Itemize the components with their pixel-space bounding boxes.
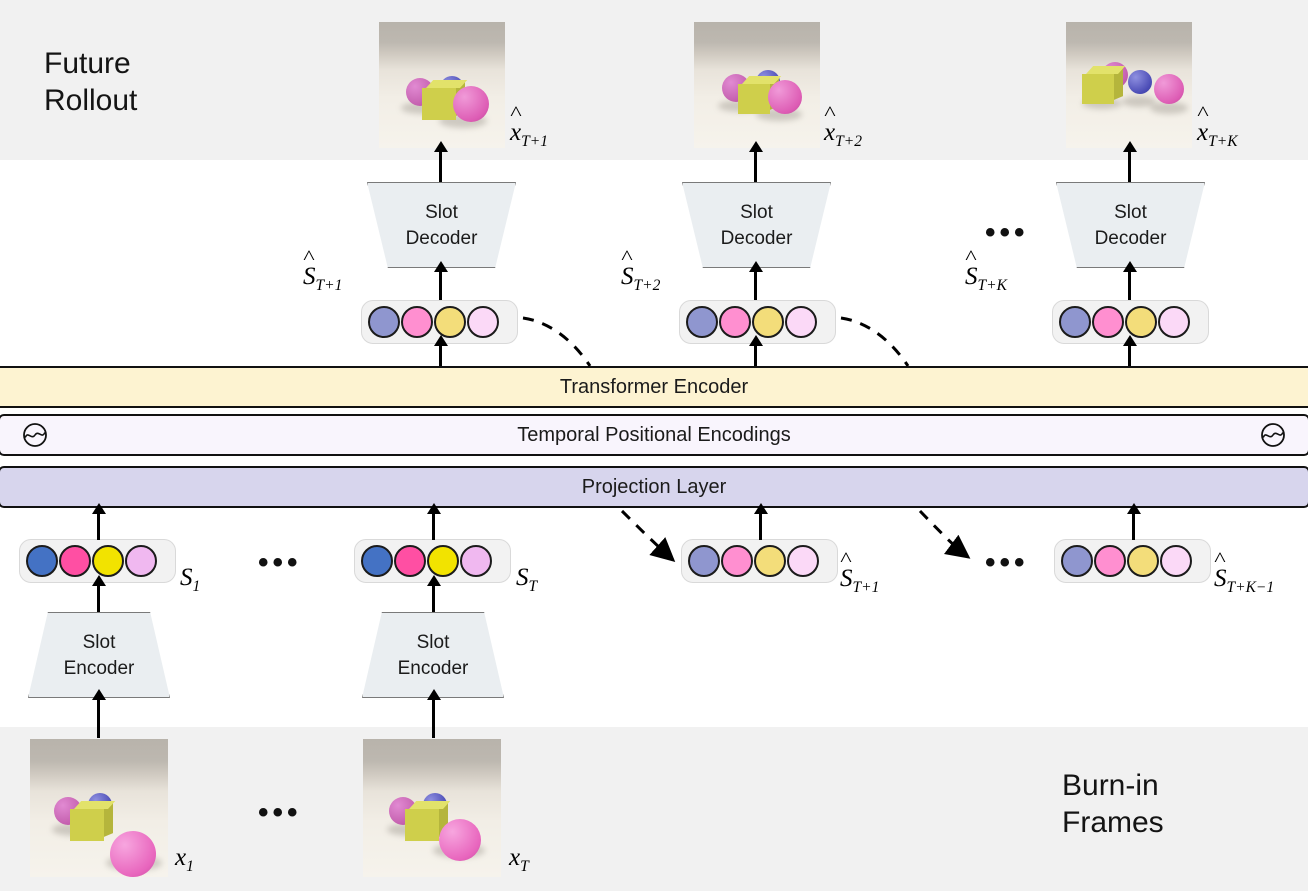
arrow-transformer-to-slots-T1	[439, 344, 442, 366]
sine-wave-circle-icon-right	[1260, 422, 1286, 448]
burn-in-frame-1	[30, 739, 168, 877]
label-x1: x1	[175, 844, 194, 876]
predicted-frame-T2	[694, 22, 820, 148]
arrow-frame1-to-encoder	[97, 698, 100, 738]
arrow-S1-to-projection	[97, 512, 100, 540]
yellow-cube	[738, 84, 770, 114]
arrow-ShatTK1-to-projection	[1132, 512, 1135, 540]
pink-sphere-large	[439, 819, 481, 861]
arrow-decoder-to-frame-T2	[754, 150, 757, 182]
pink-sphere-large	[768, 80, 802, 114]
burn-in-frames-title: Burn-in Frames	[1062, 767, 1164, 841]
label-Shat-TK-1-input: ST+K−1	[1214, 565, 1274, 597]
slot-2	[752, 306, 784, 338]
pink-sphere-large	[1154, 74, 1184, 104]
arrow-ST-to-projection	[432, 512, 435, 540]
slot-2	[427, 545, 459, 577]
slot-1	[394, 545, 426, 577]
slot-0	[361, 545, 393, 577]
slot-1	[401, 306, 433, 338]
transformer-encoder-layer[interactable]: Transformer Encoder	[0, 366, 1308, 408]
arrow-transformer-to-slots-T2	[754, 344, 757, 366]
arrow-slots-to-decoder-T1	[439, 270, 442, 300]
label-xhat-TK: xT+K	[1197, 119, 1238, 151]
pink-sphere-large	[453, 86, 489, 122]
slot-group-Shat-TK-1-input[interactable]	[1054, 539, 1211, 583]
slot-encoder-1[interactable]: Slot Encoder	[28, 612, 170, 698]
ellipsis-bottom: •••	[258, 798, 302, 828]
architecture-diagram: Future Rollout Burn-in Frames xT+1 xT+2	[0, 0, 1308, 891]
label-xT: xT	[509, 844, 529, 876]
slot-0	[686, 306, 718, 338]
slot-0	[1059, 306, 1091, 338]
slot-group-Shat-T1-input[interactable]	[681, 539, 838, 583]
arrow-transformer-to-slots-TK	[1128, 344, 1131, 366]
slot-decoder-T1[interactable]: Slot Decoder	[367, 182, 516, 268]
pink-sphere-large	[110, 831, 156, 877]
slot-2	[1127, 545, 1159, 577]
dashed-arrow-to-ShatT1-input	[622, 511, 673, 560]
slot-2	[1125, 306, 1157, 338]
arrow-encoder1-to-S1	[97, 584, 100, 612]
dashed-arrow-to-next-input	[920, 511, 968, 557]
ellipsis-mid-left: •••	[258, 548, 302, 578]
label-ST: ST	[516, 564, 537, 596]
slot-decoder-TK[interactable]: Slot Decoder	[1056, 182, 1205, 268]
ellipsis-top: •••	[985, 218, 1029, 248]
slot-1	[719, 306, 751, 338]
slot-3	[1158, 306, 1190, 338]
label-S1: S1	[180, 564, 200, 596]
projection-layer[interactable]: Projection Layer	[0, 466, 1308, 508]
dashed-arc-T1-down	[523, 318, 590, 366]
slot-3	[1160, 545, 1192, 577]
blue-sphere	[1128, 70, 1152, 94]
arrow-frameT-to-encoder	[432, 698, 435, 738]
slot-3	[787, 545, 819, 577]
yellow-cube	[422, 88, 456, 120]
label-Shat-T2: ST+2	[621, 263, 660, 295]
slot-3	[125, 545, 157, 577]
arrow-encoderT-to-ST	[432, 584, 435, 612]
slot-1	[721, 545, 753, 577]
future-rollout-title: Future Rollout	[44, 45, 137, 119]
slot-decoder-T2[interactable]: Slot Decoder	[682, 182, 831, 268]
arrow-slots-to-decoder-T2	[754, 270, 757, 300]
slot-2	[92, 545, 124, 577]
slot-3	[467, 306, 499, 338]
slot-1	[59, 545, 91, 577]
label-Shat-T1-input: ST+1	[840, 565, 879, 597]
slot-1	[1092, 306, 1124, 338]
slot-3	[785, 306, 817, 338]
yellow-cube	[405, 809, 439, 841]
yellow-cube	[70, 809, 104, 841]
temporal-positional-encodings-layer[interactable]: Temporal Positional Encodings	[0, 414, 1308, 456]
arrow-decoder-to-frame-TK	[1128, 150, 1131, 182]
arrow-decoder-to-frame-T1	[439, 150, 442, 182]
slot-2	[754, 545, 786, 577]
predicted-frame-T1	[379, 22, 505, 148]
label-xhat-T1: xT+1	[510, 119, 548, 151]
label-Shat-T1: ST+1	[303, 263, 342, 295]
slot-0	[368, 306, 400, 338]
label-xhat-T2: xT+2	[824, 119, 862, 151]
ellipsis-mid-right: •••	[985, 548, 1029, 578]
slot-3	[460, 545, 492, 577]
slot-0	[688, 545, 720, 577]
sine-wave-circle-icon-left	[22, 422, 48, 448]
slot-1	[1094, 545, 1126, 577]
yellow-cube	[1082, 74, 1114, 104]
predicted-frame-TK	[1066, 22, 1192, 148]
arrow-ShatT1-to-projection	[759, 512, 762, 540]
slot-2	[434, 306, 466, 338]
slot-encoder-T[interactable]: Slot Encoder	[362, 612, 504, 698]
slot-0	[26, 545, 58, 577]
label-Shat-TK: ST+K	[965, 263, 1007, 295]
arrow-slots-to-decoder-TK	[1128, 270, 1131, 300]
dashed-arc-T2-down	[841, 318, 908, 366]
slot-0	[1061, 545, 1093, 577]
burn-in-frame-T	[363, 739, 501, 877]
